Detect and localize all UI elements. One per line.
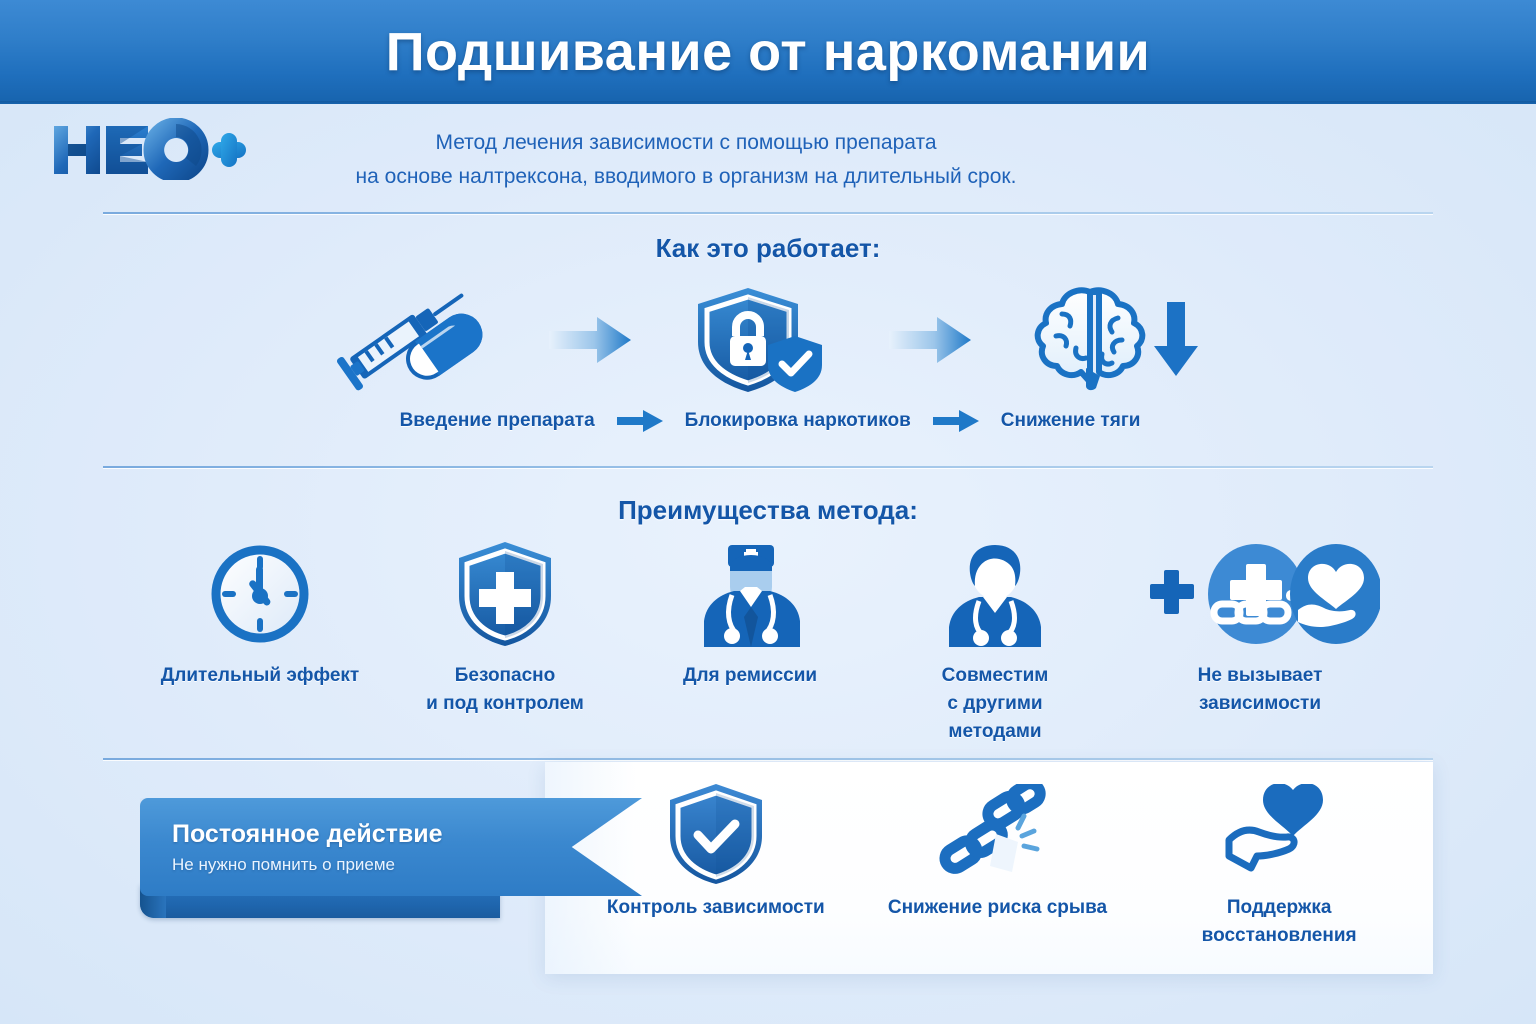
benefit-item-remission: Для ремиссии — [640, 540, 860, 690]
doctor-stethoscope-icon — [941, 540, 1049, 648]
flow-arrow-1-icon — [547, 314, 633, 366]
how-it-works-heading: Как это работает: — [0, 233, 1536, 264]
flow-inline-arrow-2-icon — [933, 410, 979, 432]
syringe-pill-icon — [330, 285, 490, 395]
how-it-works-labels: Введение препарата Блокировка наркотиков… — [300, 410, 1240, 432]
bottom-label-line-1: Поддержка — [1202, 894, 1357, 922]
bottom-item-support: Поддержка восстановления — [1154, 782, 1404, 950]
ribbon-subtitle: Не нужно помнить о приеме — [172, 855, 642, 875]
benefit-label-line-1: Не вызывает — [1198, 662, 1323, 690]
benefits-heading: Преимущества метода: — [0, 495, 1536, 526]
flow-label-2: Снижение тяги — [1001, 410, 1141, 432]
bottom-label-line-2: восстановления — [1202, 922, 1357, 950]
doctor-nurse-icon — [696, 540, 804, 648]
flow-arrow-2-icon — [887, 314, 973, 366]
benefit-item-compatible: Совместим с другими методами — [885, 540, 1105, 746]
bottom-label-control: Контроль зависимости — [607, 894, 825, 922]
permanent-action-ribbon: Постоянное действие Не нужно помнить о п… — [140, 798, 642, 896]
shield-cross-icon — [453, 540, 557, 648]
benefit-label-no-addiction: Не вызывает зависимости — [1198, 662, 1323, 718]
broken-chain-icon — [934, 782, 1060, 886]
shield-check-icon — [664, 782, 768, 886]
benefit-label-line-1: Совместим — [942, 662, 1049, 690]
benefit-label-line-1: Длительный эффект — [161, 662, 359, 690]
brain-down-arrow-icon — [1030, 284, 1210, 396]
subtitle-line-2: на основе налтрексона, вводимого в орган… — [276, 160, 1096, 194]
clock-icon — [208, 540, 312, 648]
how-it-works-icon-row — [330, 280, 1210, 400]
subtitle-line-1: Метод лечения зависимости с помощью преп… — [276, 126, 1096, 160]
bottom-items-row: Контроль зависимости — [575, 782, 1420, 972]
benefit-label-compatible: Совместим с другими методами — [942, 662, 1049, 746]
benefits-row: Длительный эффект Безопасно и под кон — [150, 540, 1390, 740]
neo-plus-logo — [48, 118, 248, 180]
benefit-label-safe: Безопасно и под контролем — [426, 662, 584, 718]
subtitle: Метод лечения зависимости с помощью преп… — [276, 126, 1096, 194]
bottom-label-line-1: Контроль зависимости — [607, 894, 825, 922]
infographic-poster: Подшивание от наркомании — [0, 0, 1536, 1024]
flow-label-0: Введение препарата — [400, 410, 595, 432]
shield-lock-icon — [690, 284, 830, 396]
benefit-item-safe: Безопасно и под контролем — [395, 540, 615, 718]
ribbon-title: Постоянное действие — [172, 820, 642, 849]
divider-top — [103, 212, 1433, 214]
hand-heart-icon — [1221, 782, 1337, 886]
flow-label-1: Блокировка наркотиков — [685, 410, 911, 432]
benefit-label-line-2: зависимости — [1198, 690, 1323, 718]
plus-chain-heart-hand-icon — [1140, 540, 1380, 648]
flow-inline-arrow-1-icon — [617, 410, 663, 432]
benefit-label-line-1: Для ремиссии — [683, 662, 817, 690]
benefit-label-long-effect: Длительный эффект — [161, 662, 359, 690]
benefit-item-long-effect: Длительный эффект — [150, 540, 370, 690]
benefit-label-line-3: методами — [942, 718, 1049, 746]
bottom-label-relapse: Снижение риска срыва — [888, 894, 1107, 922]
benefit-label-remission: Для ремиссии — [683, 662, 817, 690]
benefit-label-line-2: с другими — [942, 690, 1049, 718]
divider-middle — [103, 466, 1433, 468]
benefit-item-no-addiction: Не вызывает зависимости — [1130, 540, 1390, 718]
benefit-label-line-2: и под контролем — [426, 690, 584, 718]
page-title: Подшивание от наркомании — [386, 21, 1151, 83]
poster-header: Подшивание от наркомании — [0, 0, 1536, 104]
bottom-label-support: Поддержка восстановления — [1202, 894, 1357, 950]
bottom-item-control: Контроль зависимости — [591, 782, 841, 922]
benefit-label-line-1: Безопасно — [426, 662, 584, 690]
bottom-label-line-1: Снижение риска срыва — [888, 894, 1107, 922]
bottom-item-relapse: Снижение риска срыва — [872, 782, 1122, 922]
divider-bottom — [103, 758, 1433, 760]
